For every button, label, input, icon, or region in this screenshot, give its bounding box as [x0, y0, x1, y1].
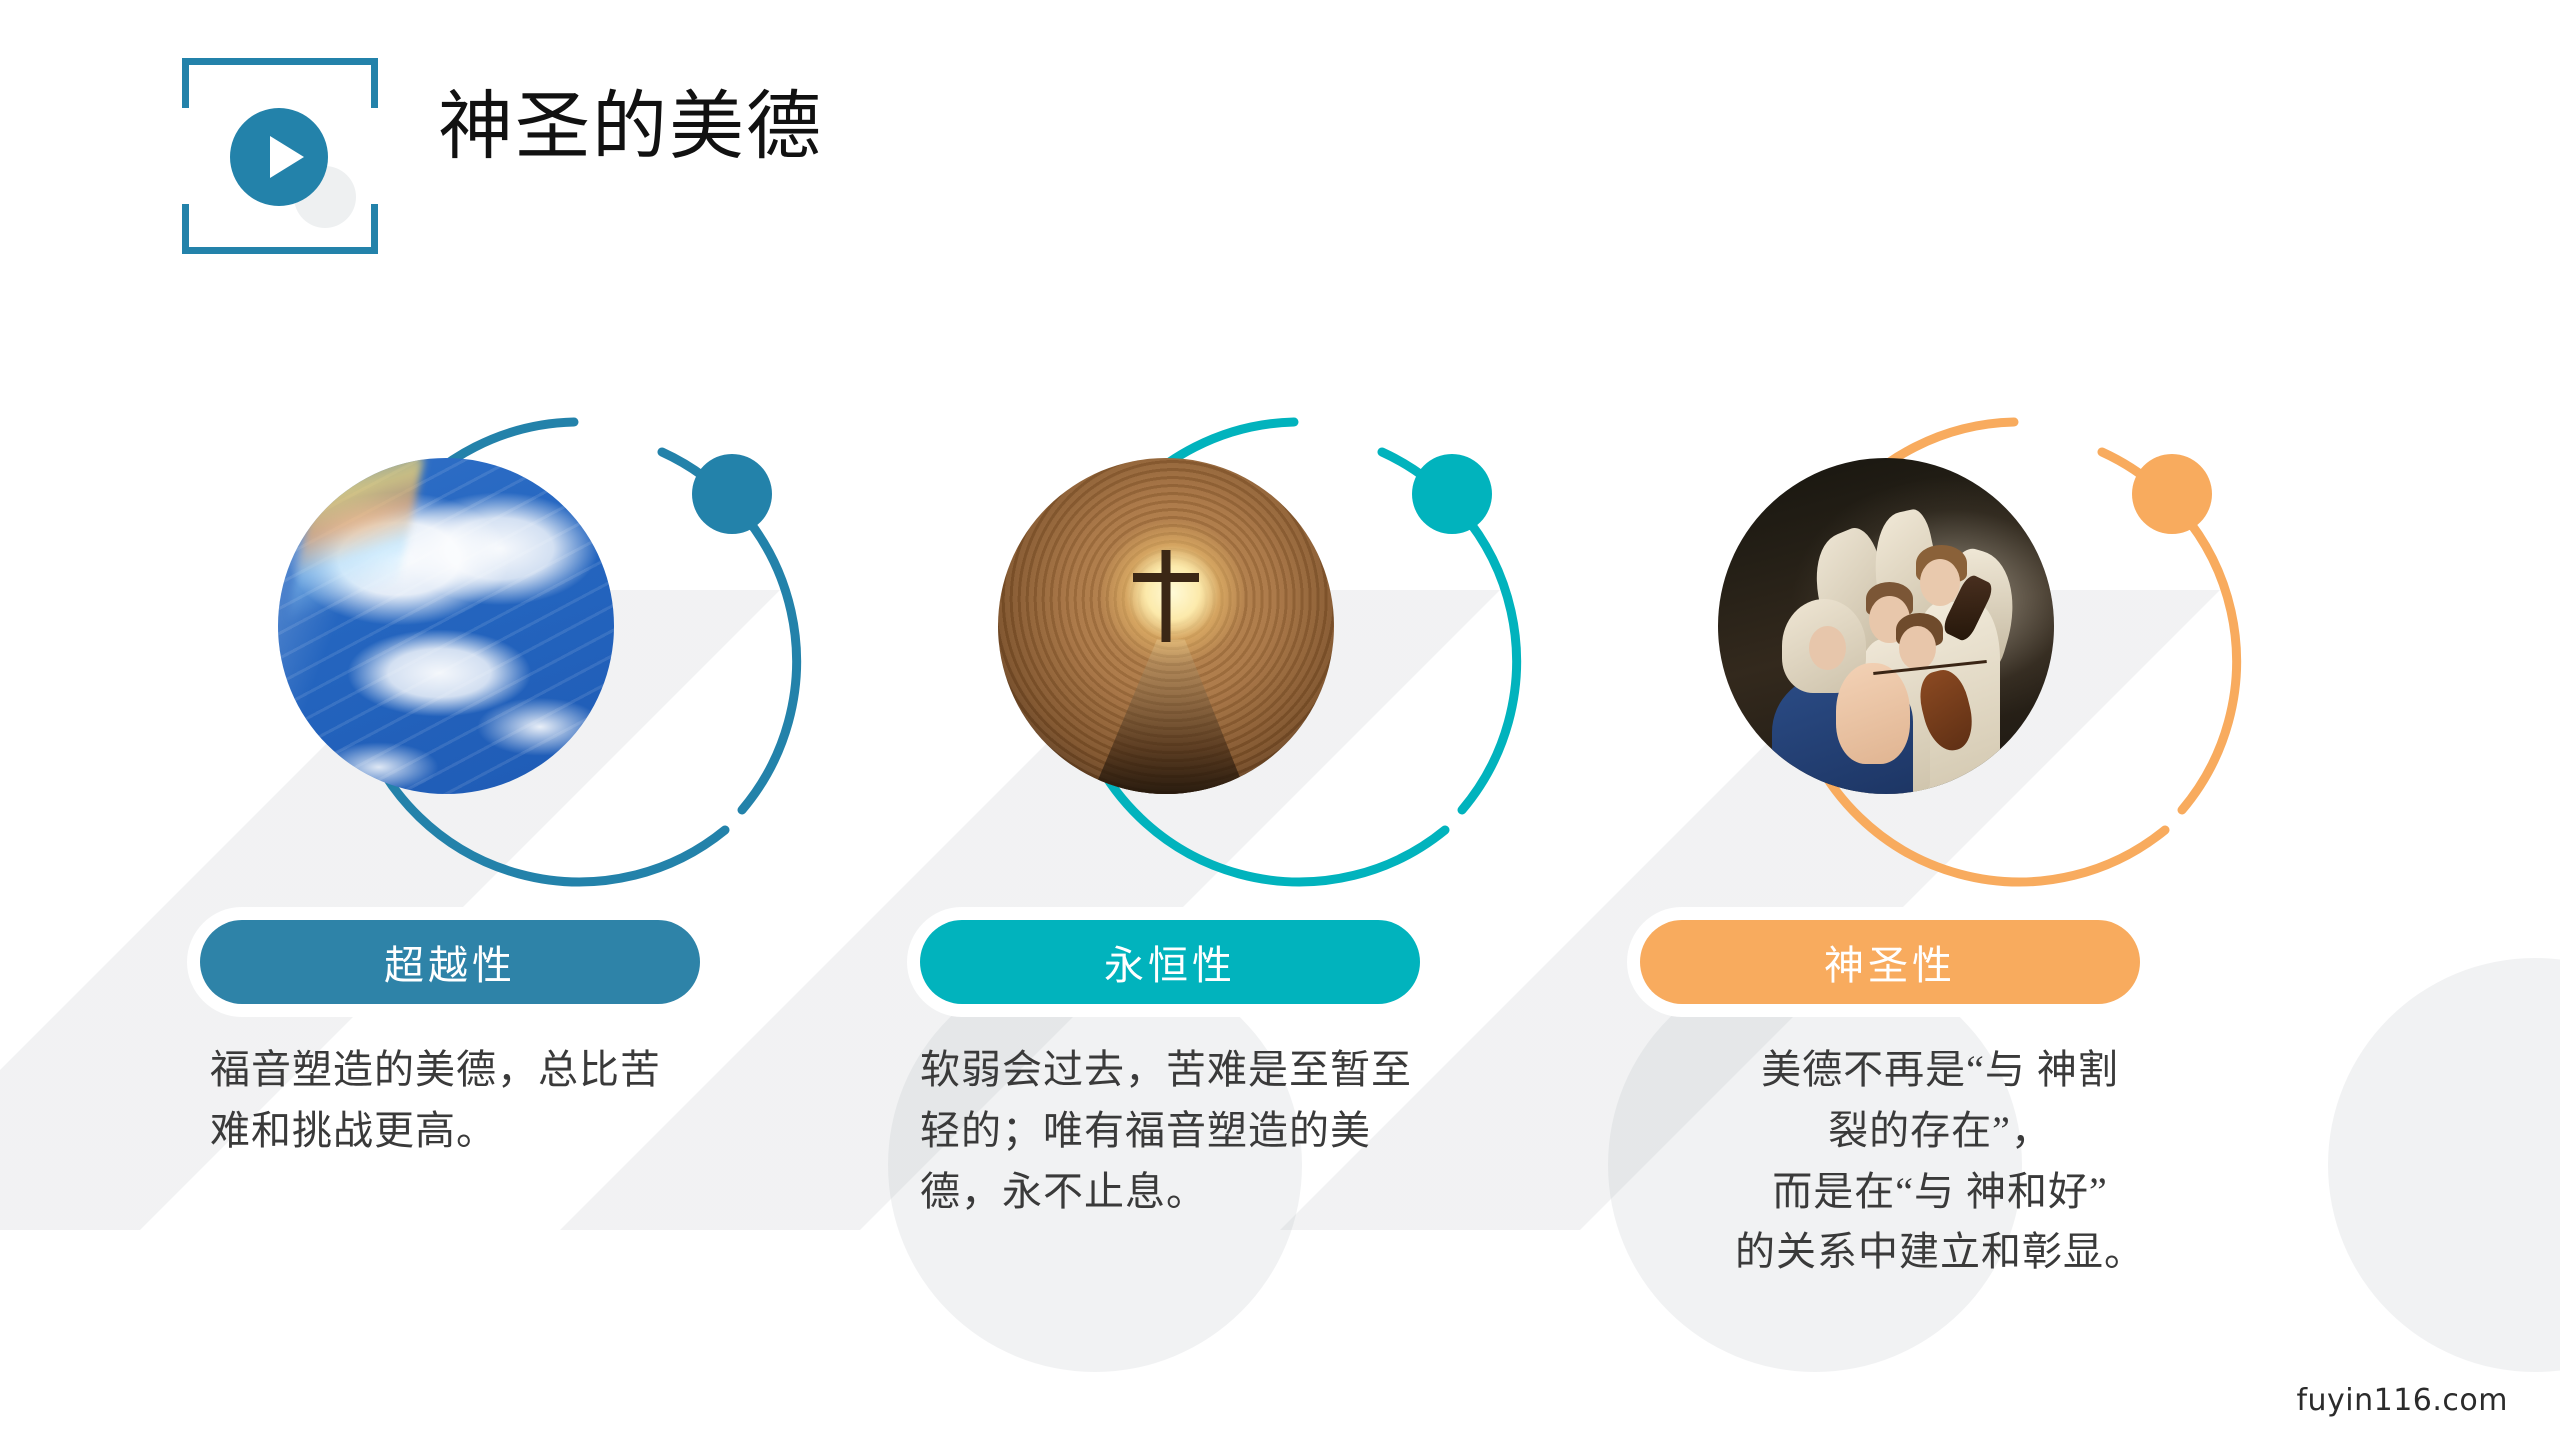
card-eternity: 永恒性 软弱会过去，苦难是至暂至 轻的；唯有福音塑造的美 德，永不止息。 — [920, 380, 1660, 1380]
play-icon — [270, 136, 304, 178]
card-holiness: 神圣性 美德不再是“与 神割 裂的存在”， 而是在“与 神和好” 的关系中建立和… — [1640, 380, 2380, 1380]
orbit-dot — [692, 454, 772, 534]
empty-tomb-cross-photo — [998, 458, 1334, 794]
cards-row: 超越性 福音塑造的美德，总比苦 难和挑战更高。 永恒性 — [0, 380, 2560, 1380]
caption-eternity: 软弱会过去，苦难是至暂至 轻的；唯有福音塑造的美 德，永不止息。 — [920, 1040, 1520, 1222]
slide-header: 神圣的美德 — [0, 0, 2560, 260]
logo-mark — [182, 58, 378, 254]
card-transcendence: 超越性 福音塑造的美德，总比苦 难和挑战更高。 — [200, 380, 940, 1380]
site-watermark: fuyin116.com — [2296, 1383, 2508, 1418]
caption-transcendence: 福音塑造的美德，总比苦 难和挑战更高。 — [210, 1040, 710, 1162]
blue-sky-clouds-photo — [278, 458, 614, 794]
badge-transcendence[interactable]: 超越性 — [200, 920, 700, 1004]
angel-head — [1899, 626, 1936, 670]
logo-frame-gap-left — [178, 108, 200, 204]
orbit-dot — [1412, 454, 1492, 534]
page-title: 神圣的美德 — [438, 85, 823, 168]
baby-jesus — [1836, 663, 1910, 764]
mary-face — [1809, 626, 1846, 670]
logo-frame-gap-right — [360, 108, 382, 204]
slide-canvas: 神圣的美德 超越性 福音塑造的美德，总比苦 难和挑战更 — [0, 0, 2560, 1440]
angel-head — [1920, 559, 1960, 606]
cross-icon — [1133, 550, 1199, 642]
song-of-the-angels-painting — [1718, 458, 2054, 794]
play-button-circle[interactable] — [230, 108, 328, 206]
badge-eternity[interactable]: 永恒性 — [920, 920, 1420, 1004]
orbit-dot — [2132, 454, 2212, 534]
badge-label: 超越性 — [384, 933, 516, 991]
badge-holiness[interactable]: 神圣性 — [1640, 920, 2140, 1004]
caption-holiness: 美德不再是“与 神割 裂的存在”， 而是在“与 神和好” 的关系中建立和彰显。 — [1630, 1040, 2250, 1283]
badge-label: 神圣性 — [1824, 933, 1956, 991]
badge-label: 永恒性 — [1104, 933, 1236, 991]
